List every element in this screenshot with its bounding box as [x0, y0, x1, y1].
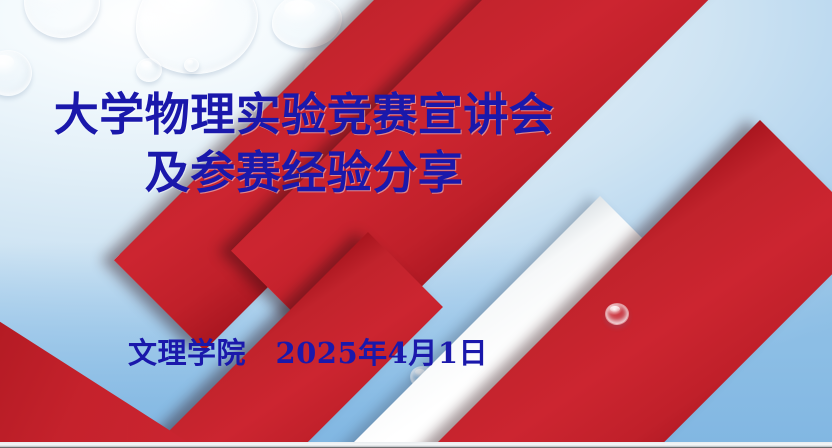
slide-title: 大学物理实验竞赛宣讲会 及参赛经验分享	[8, 86, 600, 202]
chevron-decoration	[0, 0, 832, 448]
bottom-edge-strip	[0, 442, 832, 448]
slide-canvas: 大学物理实验竞赛宣讲会 及参赛经验分享 文理学院 2025年4月1日	[0, 0, 832, 448]
slide-subtitle: 文理学院 2025年4月1日	[8, 334, 608, 372]
